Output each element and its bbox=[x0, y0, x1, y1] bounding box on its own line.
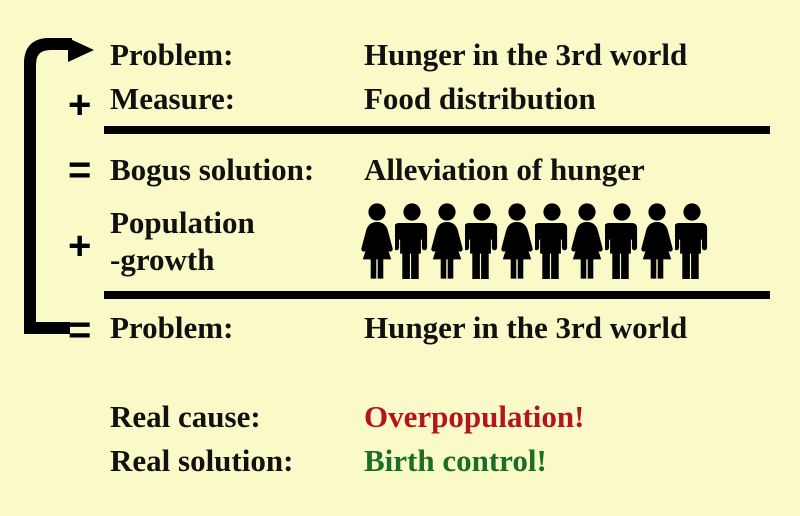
feedback-loop-arrow bbox=[22, 38, 112, 338]
row-2-label: Measure: bbox=[110, 82, 235, 115]
person-icon-male bbox=[395, 203, 429, 279]
operator-equals-2: = bbox=[68, 310, 91, 350]
operator-equals-1: = bbox=[68, 150, 91, 190]
population-people-icons bbox=[360, 203, 709, 279]
row-1-label: Problem: bbox=[110, 38, 233, 71]
row-5-label: Problem: bbox=[110, 311, 233, 344]
row-4-label-line2: -growth bbox=[110, 243, 214, 276]
row-1-value: Hunger in the 3rd world bbox=[364, 38, 687, 71]
diagram-canvas: Problem: Hunger in the 3rd world + Measu… bbox=[0, 0, 800, 516]
person-icon-male bbox=[675, 203, 709, 279]
person-icon-female bbox=[640, 203, 674, 279]
person-icon-male bbox=[465, 203, 499, 279]
equation-rule-bottom bbox=[104, 291, 770, 299]
person-icon-female bbox=[360, 203, 394, 279]
person-icon-female bbox=[500, 203, 534, 279]
row-3-value: Alleviation of hunger bbox=[364, 153, 645, 186]
row-5-value: Hunger in the 3rd world bbox=[364, 311, 687, 344]
person-icon-female bbox=[430, 203, 464, 279]
real-solution-value: Birth control! bbox=[364, 444, 547, 477]
operator-plus-1: + bbox=[68, 85, 91, 125]
row-4-label-line1: Population bbox=[110, 206, 255, 239]
row-2-value: Food distribution bbox=[364, 82, 596, 115]
person-icon-male bbox=[605, 203, 639, 279]
row-3-label: Bogus solution: bbox=[110, 153, 314, 186]
real-cause-value: Overpopulation! bbox=[364, 400, 584, 433]
real-solution-label: Real solution: bbox=[110, 444, 293, 477]
person-icon-female bbox=[570, 203, 604, 279]
person-icon-male bbox=[535, 203, 569, 279]
equation-rule-top bbox=[104, 126, 770, 134]
operator-plus-2: + bbox=[68, 226, 91, 266]
real-cause-label: Real cause: bbox=[110, 400, 261, 433]
